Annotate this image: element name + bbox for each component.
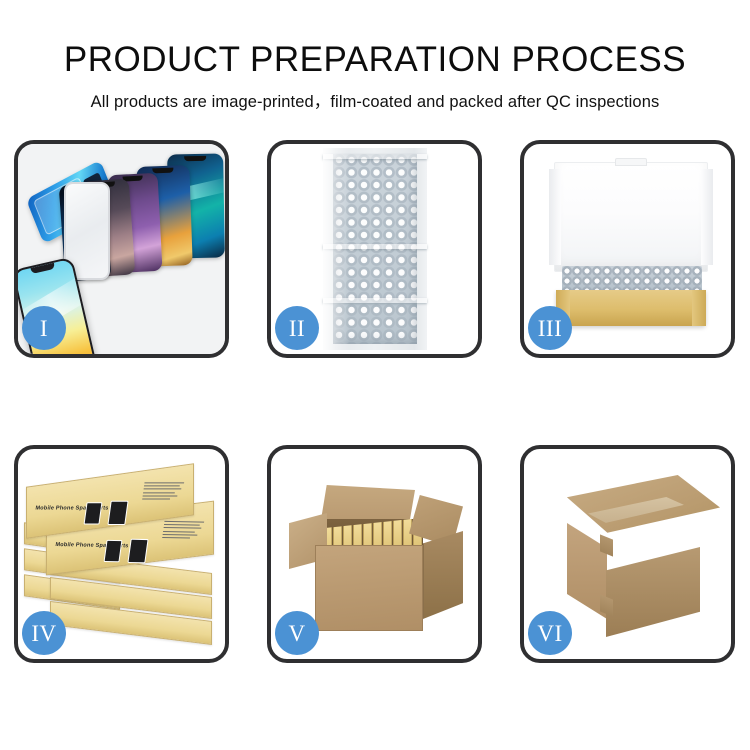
step-badge-6: VI: [528, 611, 572, 655]
step-badge-4: IV: [22, 611, 66, 655]
phone-notch: [152, 168, 173, 174]
white-mailer-box-icon: [548, 162, 714, 332]
header: PRODUCT PREPARATION PROCESS All products…: [0, 0, 750, 111]
page-title: PRODUCT PREPARATION PROCESS: [0, 0, 750, 77]
box-product-thumbnail: [84, 502, 103, 524]
bubble-wrap-pouch-icon: [323, 148, 427, 350]
open-carton-icon: [289, 479, 471, 639]
pouch-gloss: [323, 148, 349, 350]
mailer-lid-tab: [615, 158, 647, 166]
box-product-thumbnail: [127, 539, 148, 563]
carton-right-side: [423, 531, 463, 619]
mailer-lid: [554, 162, 708, 272]
box-spec-lines: [162, 521, 206, 541]
step-panel-6[interactable]: VI: [520, 445, 735, 663]
sealed-carton-icon: [544, 475, 720, 637]
mailer-kraft-base: [556, 290, 706, 326]
carton-front-face: [315, 545, 423, 631]
box-product-thumbnail: [104, 540, 123, 562]
step-panel-5[interactable]: V: [267, 445, 482, 663]
step-badge-1: I: [22, 306, 66, 350]
phone-notch: [184, 156, 206, 161]
product-preparation-infographic: PRODUCT PREPARATION PROCESS All products…: [0, 0, 750, 750]
step-panel-1[interactable]: I: [14, 140, 229, 358]
step-badge-5: V: [275, 611, 319, 655]
step-panel-3[interactable]: III: [520, 140, 735, 358]
carton-right-face: [606, 547, 700, 637]
process-steps-grid: I II: [0, 140, 750, 685]
box-spec-lines: [142, 482, 186, 501]
phone-notch: [30, 263, 55, 274]
page-subtitle: All products are image-printed，film-coat…: [0, 77, 750, 111]
step-badge-3: III: [528, 306, 572, 350]
step-panel-4[interactable]: Mobile Phone Spare Parts Mobile Phone Sp…: [14, 445, 229, 663]
box-product-thumbnail: [107, 501, 128, 525]
step-badge-2: II: [275, 306, 319, 350]
step-panel-2[interactable]: II: [267, 140, 482, 358]
